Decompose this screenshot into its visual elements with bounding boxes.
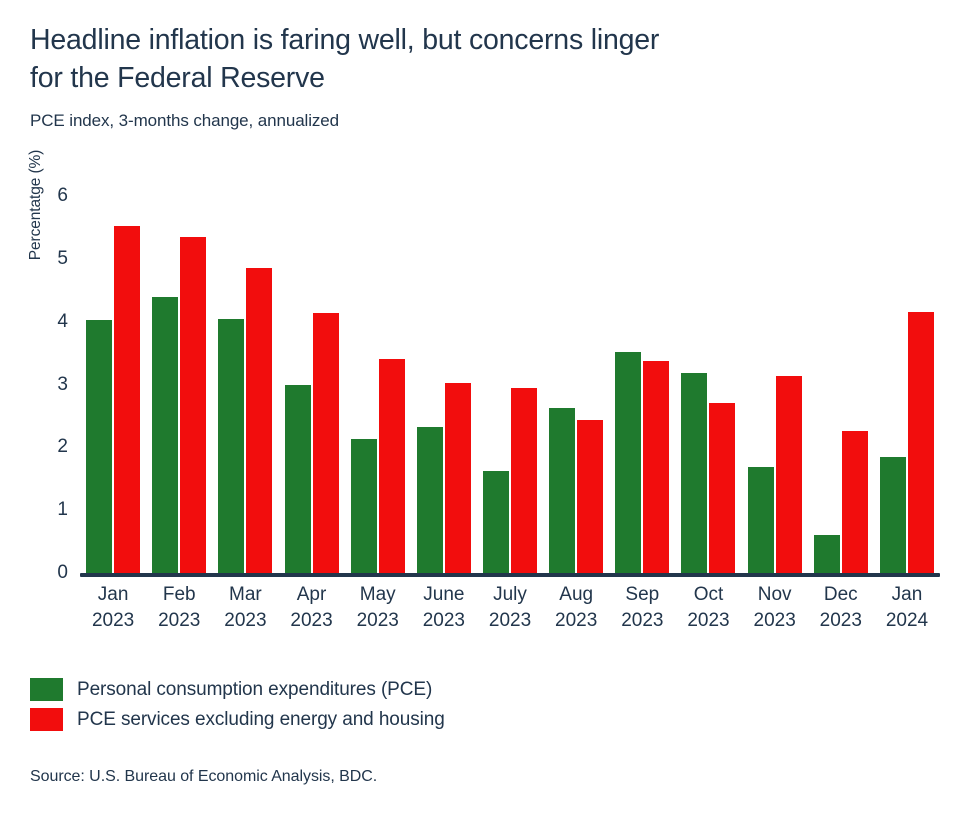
y-tick-label: 5 [28, 249, 68, 268]
bar-group [609, 196, 675, 573]
bar-pce[interactable] [152, 297, 178, 573]
bar-pce[interactable] [615, 352, 641, 573]
bar-pce-services[interactable] [908, 312, 934, 573]
x-tick-label: Dec2023 [808, 582, 874, 633]
chart-page: Headline inflation is faring well, but c… [0, 0, 960, 823]
y-tick-label: 3 [28, 375, 68, 394]
legend-label-pce: Personal consumption expenditures (PCE) [77, 679, 432, 701]
bar-pce[interactable] [86, 320, 112, 573]
y-tick-label: 4 [28, 312, 68, 331]
x-tick-label: Aug2023 [543, 582, 609, 633]
bar-pce-services[interactable] [445, 383, 471, 573]
x-tick-label: Apr2023 [278, 582, 344, 633]
x-axis-labels: Jan2023Feb2023Mar2023Apr2023May2023June2… [80, 582, 940, 633]
x-tick-year: 2023 [808, 608, 874, 634]
bar-pce-services[interactable] [180, 237, 206, 573]
y-tick-label: 6 [28, 186, 68, 205]
bar-group [411, 196, 477, 573]
x-tick-year: 2024 [874, 608, 940, 634]
bar-pce-services[interactable] [577, 420, 603, 573]
bar-group [212, 196, 278, 573]
x-tick-label: Sep2023 [609, 582, 675, 633]
x-tick-year: 2023 [543, 608, 609, 634]
x-tick-year: 2023 [212, 608, 278, 634]
x-tick-label: Jan2023 [80, 582, 146, 633]
x-tick-year: 2023 [345, 608, 411, 634]
x-tick-month: Mar [229, 584, 262, 605]
x-tick-year: 2023 [609, 608, 675, 634]
legend-swatch-pce-services-icon [30, 708, 63, 731]
bar-group [675, 196, 741, 573]
x-tick-label: July2023 [477, 582, 543, 633]
x-tick-label: Mar2023 [212, 582, 278, 633]
bar-pce[interactable] [549, 408, 575, 573]
chart-legend: Personal consumption expenditures (PCE) … [30, 678, 445, 738]
y-axis-label: Percentatge (%) [27, 95, 45, 315]
bar-pce[interactable] [814, 535, 840, 573]
bar-pce-services[interactable] [313, 313, 339, 573]
bar-groups [80, 196, 940, 573]
bar-pce[interactable] [417, 427, 443, 573]
bar-group [80, 196, 146, 573]
x-tick-year: 2023 [80, 608, 146, 634]
page-title: Headline inflation is faring well, but c… [30, 22, 930, 97]
bar-pce-services[interactable] [776, 376, 802, 573]
x-tick-month: Jan [98, 584, 129, 605]
x-tick-month: Feb [163, 584, 196, 605]
bar-pce[interactable] [880, 457, 906, 573]
bar-group [874, 196, 940, 573]
legend-item-pce[interactable]: Personal consumption expenditures (PCE) [30, 678, 445, 701]
x-tick-year: 2023 [146, 608, 212, 634]
y-tick-label: 2 [28, 437, 68, 456]
x-tick-year: 2023 [477, 608, 543, 634]
bar-pce-services[interactable] [114, 226, 140, 573]
x-tick-month: May [360, 584, 396, 605]
bar-pce-services[interactable] [379, 359, 405, 573]
bar-group [742, 196, 808, 573]
x-tick-year: 2023 [278, 608, 344, 634]
source-note: Source: U.S. Bureau of Economic Analysis… [30, 768, 377, 786]
x-tick-month: Dec [824, 584, 858, 605]
bar-pce-services[interactable] [643, 361, 669, 573]
x-tick-month: Oct [694, 584, 724, 605]
x-tick-label: May2023 [345, 582, 411, 633]
y-tick-label: 1 [28, 500, 68, 519]
bar-pce[interactable] [218, 319, 244, 573]
bar-pce-services[interactable] [842, 431, 868, 573]
bar-pce[interactable] [748, 467, 774, 573]
bar-pce[interactable] [483, 471, 509, 573]
x-tick-month: Nov [758, 584, 792, 605]
y-tick-label: 0 [28, 563, 68, 582]
bar-pce-services[interactable] [511, 388, 537, 573]
x-tick-month: June [423, 584, 464, 605]
x-tick-label: June2023 [411, 582, 477, 633]
x-tick-label: Oct2023 [675, 582, 741, 633]
x-tick-year: 2023 [675, 608, 741, 634]
bar-group [808, 196, 874, 573]
bar-pce[interactable] [681, 373, 707, 573]
x-tick-month: Jan [892, 584, 923, 605]
x-axis-line [80, 573, 940, 577]
bar-pce-services[interactable] [246, 268, 272, 573]
x-tick-year: 2023 [411, 608, 477, 634]
bar-group [543, 196, 609, 573]
x-tick-year: 2023 [742, 608, 808, 634]
x-tick-label: Feb2023 [146, 582, 212, 633]
bar-group [477, 196, 543, 573]
chart-subtitle: PCE index, 3-months change, annualized [30, 111, 930, 131]
bar-group [146, 196, 212, 573]
chart-header: Headline inflation is faring well, but c… [30, 22, 930, 131]
legend-item-pce-services[interactable]: PCE services excluding energy and housin… [30, 708, 445, 731]
x-tick-label: Nov2023 [742, 582, 808, 633]
bar-group [278, 196, 344, 573]
x-tick-label: Jan2024 [874, 582, 940, 633]
bar-pce[interactable] [351, 439, 377, 573]
x-tick-month: Apr [297, 584, 327, 605]
bar-pce[interactable] [285, 385, 311, 573]
x-tick-month: Aug [559, 584, 593, 605]
bar-pce-services[interactable] [709, 403, 735, 573]
legend-swatch-pce-icon [30, 678, 63, 701]
bar-group [345, 196, 411, 573]
legend-label-pce-services: PCE services excluding energy and housin… [77, 709, 445, 731]
x-tick-month: Sep [625, 584, 659, 605]
x-tick-month: July [493, 584, 527, 605]
